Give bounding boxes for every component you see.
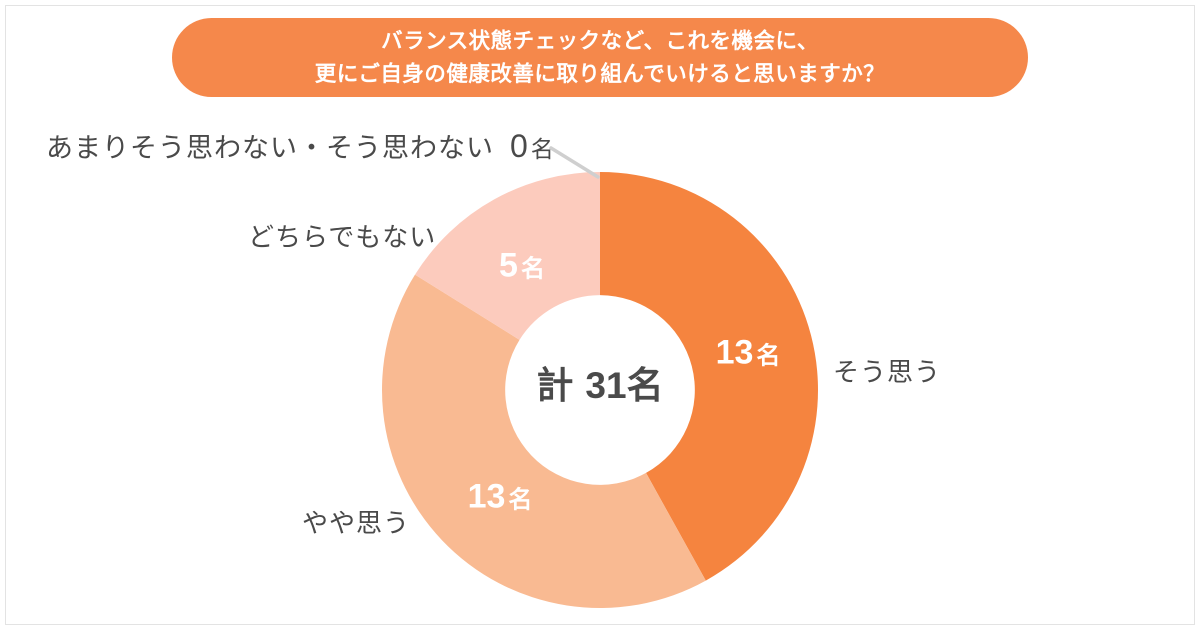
donut-slice-somewhat[interactable]	[382, 275, 706, 608]
center-total-label: 計	[536, 365, 573, 406]
donut-chart: 計31名 13名 13名 5名 あまりそう思わない・そう思わない0名 どちらでも…	[0, 0, 1200, 630]
infographic-page: バランス状態チェックなど、これを機会に、 更にご自身の健康改善に取り組んでいける…	[0, 0, 1200, 630]
center-total: 計31名	[536, 355, 663, 409]
category-label-neutral: どちらでもない	[248, 217, 436, 254]
donut-chart-svg	[0, 0, 1200, 630]
category-label-somewhat: やや思う	[302, 503, 410, 540]
slice-value-neutral-number: 5	[499, 247, 518, 285]
category-label-negative-text: あまりそう思わない・そう思わない	[46, 133, 494, 163]
slice-value-somewhat: 13名	[468, 478, 533, 517]
leader-line-negative	[551, 148, 598, 177]
slice-value-agree-number: 13	[716, 334, 754, 372]
slice-value-somewhat-number: 13	[468, 478, 506, 516]
category-label-negative: あまりそう思わない・そう思わない0名	[46, 126, 555, 165]
category-label-agree: そう思う	[833, 352, 941, 389]
slice-value-agree: 13名	[716, 334, 781, 373]
slice-value-somewhat-unit: 名	[508, 487, 532, 514]
category-label-negative-unit: 名	[531, 136, 555, 162]
slice-value-neutral-unit: 名	[521, 256, 545, 283]
category-label-negative-count: 0	[510, 128, 529, 164]
slice-value-neutral: 5名	[499, 247, 545, 286]
center-total-value: 31名	[585, 365, 663, 406]
slice-value-agree-unit: 名	[756, 343, 780, 370]
